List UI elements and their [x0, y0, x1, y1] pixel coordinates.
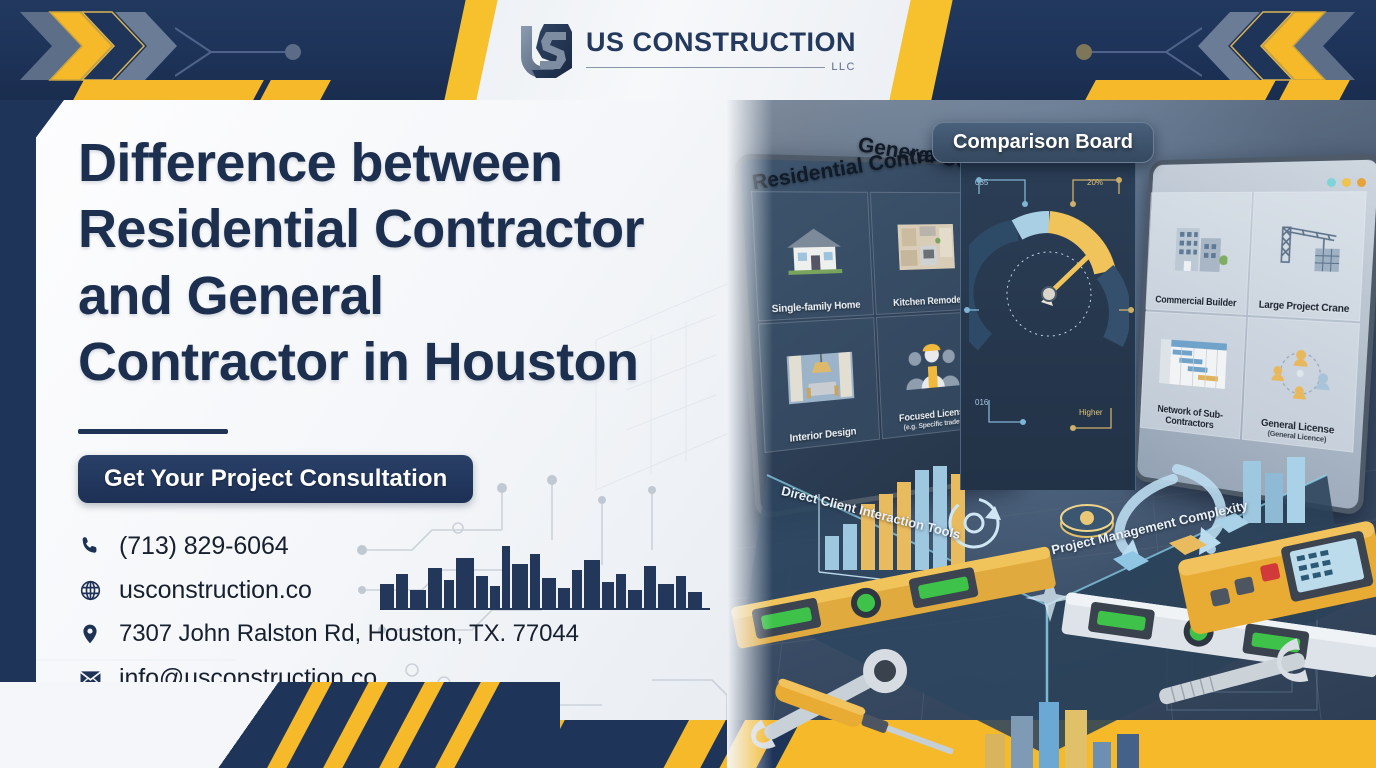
wrench-icon — [1147, 620, 1367, 730]
tile-label: Kitchen Remodel — [893, 295, 964, 309]
contact-row-phone[interactable]: (713) 829-6064 — [78, 524, 718, 568]
brand-name: US CONSTRUCTION — [586, 29, 856, 56]
phone-number: (713) 829-6064 — [119, 532, 289, 561]
window-dot-3 — [1357, 178, 1366, 187]
header-accent-bar-3 — [1084, 80, 1276, 100]
screwdriver-icon — [757, 660, 977, 768]
logo-rule — [586, 67, 825, 68]
globe-icon — [78, 578, 102, 602]
gauge-connector-lines — [961, 160, 1137, 490]
residential-tile-grid: Single-family Home Kitchen Remode — [751, 191, 985, 453]
header-accent-bar-2 — [259, 80, 331, 100]
people-network-icon — [1247, 322, 1356, 426]
comparison-illustration: Residential Contractor Single-family Hom… — [727, 100, 1376, 768]
contact-row-address[interactable]: 7307 John Ralston Rd, Houston, TX. 77044 — [78, 612, 718, 656]
general-tile-grid: Commercial Builder — [1140, 191, 1367, 452]
window-dot-2 — [1342, 178, 1351, 187]
living-room-icon — [762, 322, 875, 436]
phone-icon — [78, 534, 102, 558]
footer-left-band — [0, 682, 560, 768]
window-dots — [1327, 178, 1366, 187]
headline-line-3: and General — [78, 263, 738, 329]
website-url: usconstruction.co — [119, 576, 312, 605]
map-pin-icon — [78, 622, 102, 646]
headline-line-4: Contractor in Houston — [78, 329, 738, 395]
tile-large-project-crane[interactable]: Large Project Crane — [1248, 191, 1367, 321]
office-building-icon — [1150, 197, 1249, 299]
gantt-chart-icon — [1144, 316, 1242, 412]
title-divider — [78, 429, 228, 434]
gauge-panel: 035 20% 016 Higher — [960, 160, 1136, 490]
arrow-line-right — [1072, 26, 1202, 78]
headline-line-2: Residential Contractor — [78, 196, 738, 262]
tile-commercial-builder[interactable]: Commercial Builder — [1145, 192, 1252, 315]
brand-suffix: LLC — [831, 61, 856, 73]
address-text: 7307 John Ralston Rd, Houston, TX. 77044 — [119, 620, 579, 648]
tile-network-of-subcontractors[interactable]: Network of Sub-Contractors — [1140, 311, 1246, 439]
brand-logo[interactable]: US CONSTRUCTION LLC — [516, 20, 876, 82]
illustration-left-fade — [727, 100, 773, 768]
marketing-banner: US CONSTRUCTION LLC — [0, 0, 1376, 768]
us-monogram-icon — [516, 22, 574, 80]
header-accent-bar-4 — [1278, 80, 1350, 100]
contact-list: (713) 829-6064 usconstruction.co — [78, 524, 718, 700]
tile-general-license[interactable]: General License (General Licence) — [1242, 317, 1360, 453]
headline-line-1: Difference between — [78, 130, 738, 196]
arrow-line-left — [175, 26, 305, 78]
banner-header: US CONSTRUCTION LLC — [0, 0, 1376, 100]
window-dot-1 — [1327, 178, 1336, 187]
tile-interior-design[interactable]: Interior Design — [758, 317, 880, 453]
crane-icon — [1253, 197, 1363, 305]
comparison-board-badge: Comparison Board — [932, 122, 1154, 163]
contact-row-website[interactable]: usconstruction.co — [78, 568, 718, 612]
page-title: Difference between Residential Contracto… — [78, 130, 738, 396]
